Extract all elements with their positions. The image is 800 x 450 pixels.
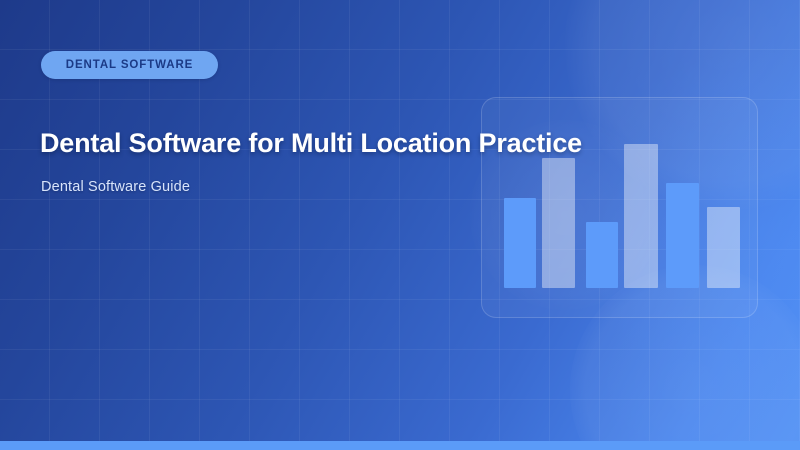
- page-subtitle: Dental Software Guide: [41, 179, 190, 195]
- chart-bar: [707, 207, 740, 288]
- chart-bar: [666, 183, 699, 288]
- chart-card: [481, 97, 758, 318]
- chart-bar: [586, 222, 618, 288]
- chart-bar: [624, 144, 658, 288]
- category-badge-label: DENTAL SOFTWARE: [66, 59, 193, 71]
- bottom-accent-bar: [0, 441, 800, 450]
- bar-chart: [482, 98, 757, 317]
- chart-bar: [504, 198, 536, 288]
- category-badge: DENTAL SOFTWARE: [41, 51, 218, 79]
- chart-bar: [542, 158, 575, 288]
- slide-canvas: DENTAL SOFTWARE Dental Software for Mult…: [0, 0, 800, 450]
